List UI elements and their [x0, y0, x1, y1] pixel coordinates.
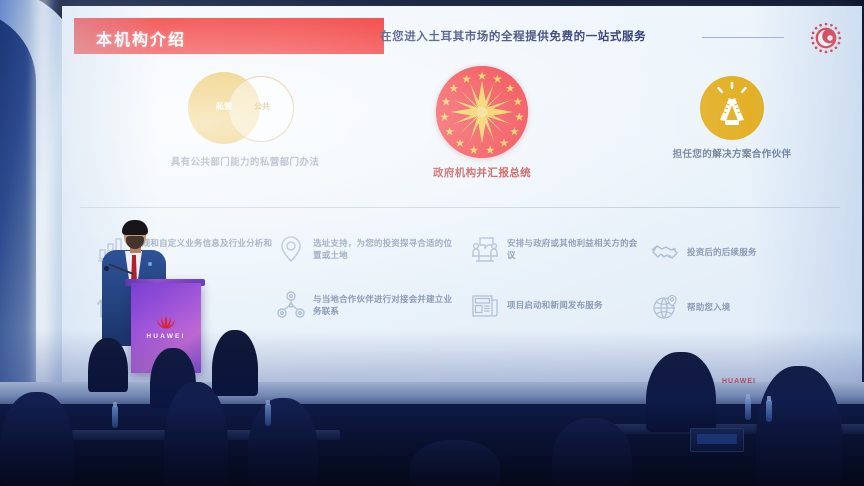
audience-member — [212, 330, 258, 396]
venn-label-public: 公共 — [242, 101, 282, 112]
service-caption: 投资后的后续服务 — [687, 246, 757, 258]
service-item-aftercare: 投资后的后续服务 — [650, 237, 820, 267]
stage-red-branding: HUAWEI — [722, 378, 756, 385]
meeting-table-icon — [470, 234, 500, 264]
audience-member — [756, 366, 842, 486]
feature-row: 私营 公共 具有公共部门能力的私营部门办法 — [62, 68, 862, 196]
service-caption: 安排与政府或其他利益相关方的会议 — [507, 237, 640, 262]
feature-private-public: 私营 公共 具有公共部门能力的私营部门办法 — [140, 68, 350, 169]
teamwork-handshake-icon — [700, 76, 764, 140]
speaker-beard — [126, 236, 144, 249]
audience-member — [0, 392, 74, 486]
turkey-invest-logo — [808, 20, 844, 56]
laptop-screen — [697, 434, 737, 444]
audience-member — [88, 338, 128, 392]
service-caption: 项目启动和新闻发布服务 — [507, 299, 603, 311]
feature-caption: 具有公共部门能力的私营部门办法 — [140, 156, 350, 169]
audience-member — [646, 352, 716, 432]
service-item-partner-matchmaking: 与当地合作伙伴进行对接会并建立业务联系 — [276, 290, 456, 320]
service-caption: 帮助您入境 — [687, 301, 731, 313]
feature-solution-partner: 担任您的解决方案合作伙伴 — [622, 68, 842, 161]
water-bottle — [745, 398, 751, 420]
huawei-flower-icon — [155, 315, 177, 329]
network-people-icon — [276, 290, 306, 320]
slide-subtitle: 在您进入土耳其市场的全程提供免费的一站式服务 — [380, 28, 646, 44]
microphone-head — [104, 266, 109, 271]
service-item-press-release: 项目启动和新闻发布服务 — [470, 290, 640, 320]
venn-label-private: 私营 — [204, 101, 244, 112]
audience-member — [552, 418, 632, 486]
header-divider-rule — [702, 37, 784, 38]
water-bottle — [265, 404, 271, 426]
feature-government-agency: 政府机构并汇报总统 — [382, 66, 582, 181]
stage-arch-highlight — [28, 0, 58, 420]
service-item-site-selection: 选址支持，为您的投资探寻合适的位置或土地 — [276, 234, 456, 264]
laptop — [690, 428, 744, 452]
water-bottle — [766, 400, 772, 422]
newspaper-news-icon — [470, 290, 500, 320]
conference-photo: 本机构介绍 在您进入土耳其市场的全程提供免费的一站式服务 — [0, 0, 864, 486]
turkish-presidency-emblem — [436, 66, 528, 158]
section-divider — [80, 207, 840, 208]
handshake-icon — [650, 237, 680, 267]
service-item-meetings: 安排与政府或其他利益相关方的会议 — [470, 234, 640, 264]
speaker-hair — [122, 220, 148, 235]
feature-caption: 担任您的解决方案合作伙伴 — [622, 148, 842, 161]
water-bottle — [112, 406, 118, 428]
map-pin-icon — [276, 234, 306, 264]
huawei-logo: HUAWEI — [131, 315, 201, 340]
speaker-lapel-pin — [148, 262, 152, 266]
audience-member — [248, 398, 318, 486]
service-caption: 与当地合作伙伴进行对接会并建立业务联系 — [313, 293, 456, 318]
globe-pin-icon — [650, 292, 680, 322]
page-title: 本机构介绍 — [96, 26, 366, 50]
service-caption: 选址支持，为您的投资探寻合适的位置或土地 — [313, 237, 456, 262]
service-item-entry-assistance: 帮助您入境 — [650, 292, 810, 322]
feature-caption: 政府机构并汇报总统 — [382, 166, 582, 181]
audience-member — [410, 440, 500, 486]
audience-member — [164, 382, 228, 486]
venn-circles-icon: 私营 公共 — [180, 68, 310, 148]
huawei-wordmark: HUAWEI — [131, 333, 201, 340]
